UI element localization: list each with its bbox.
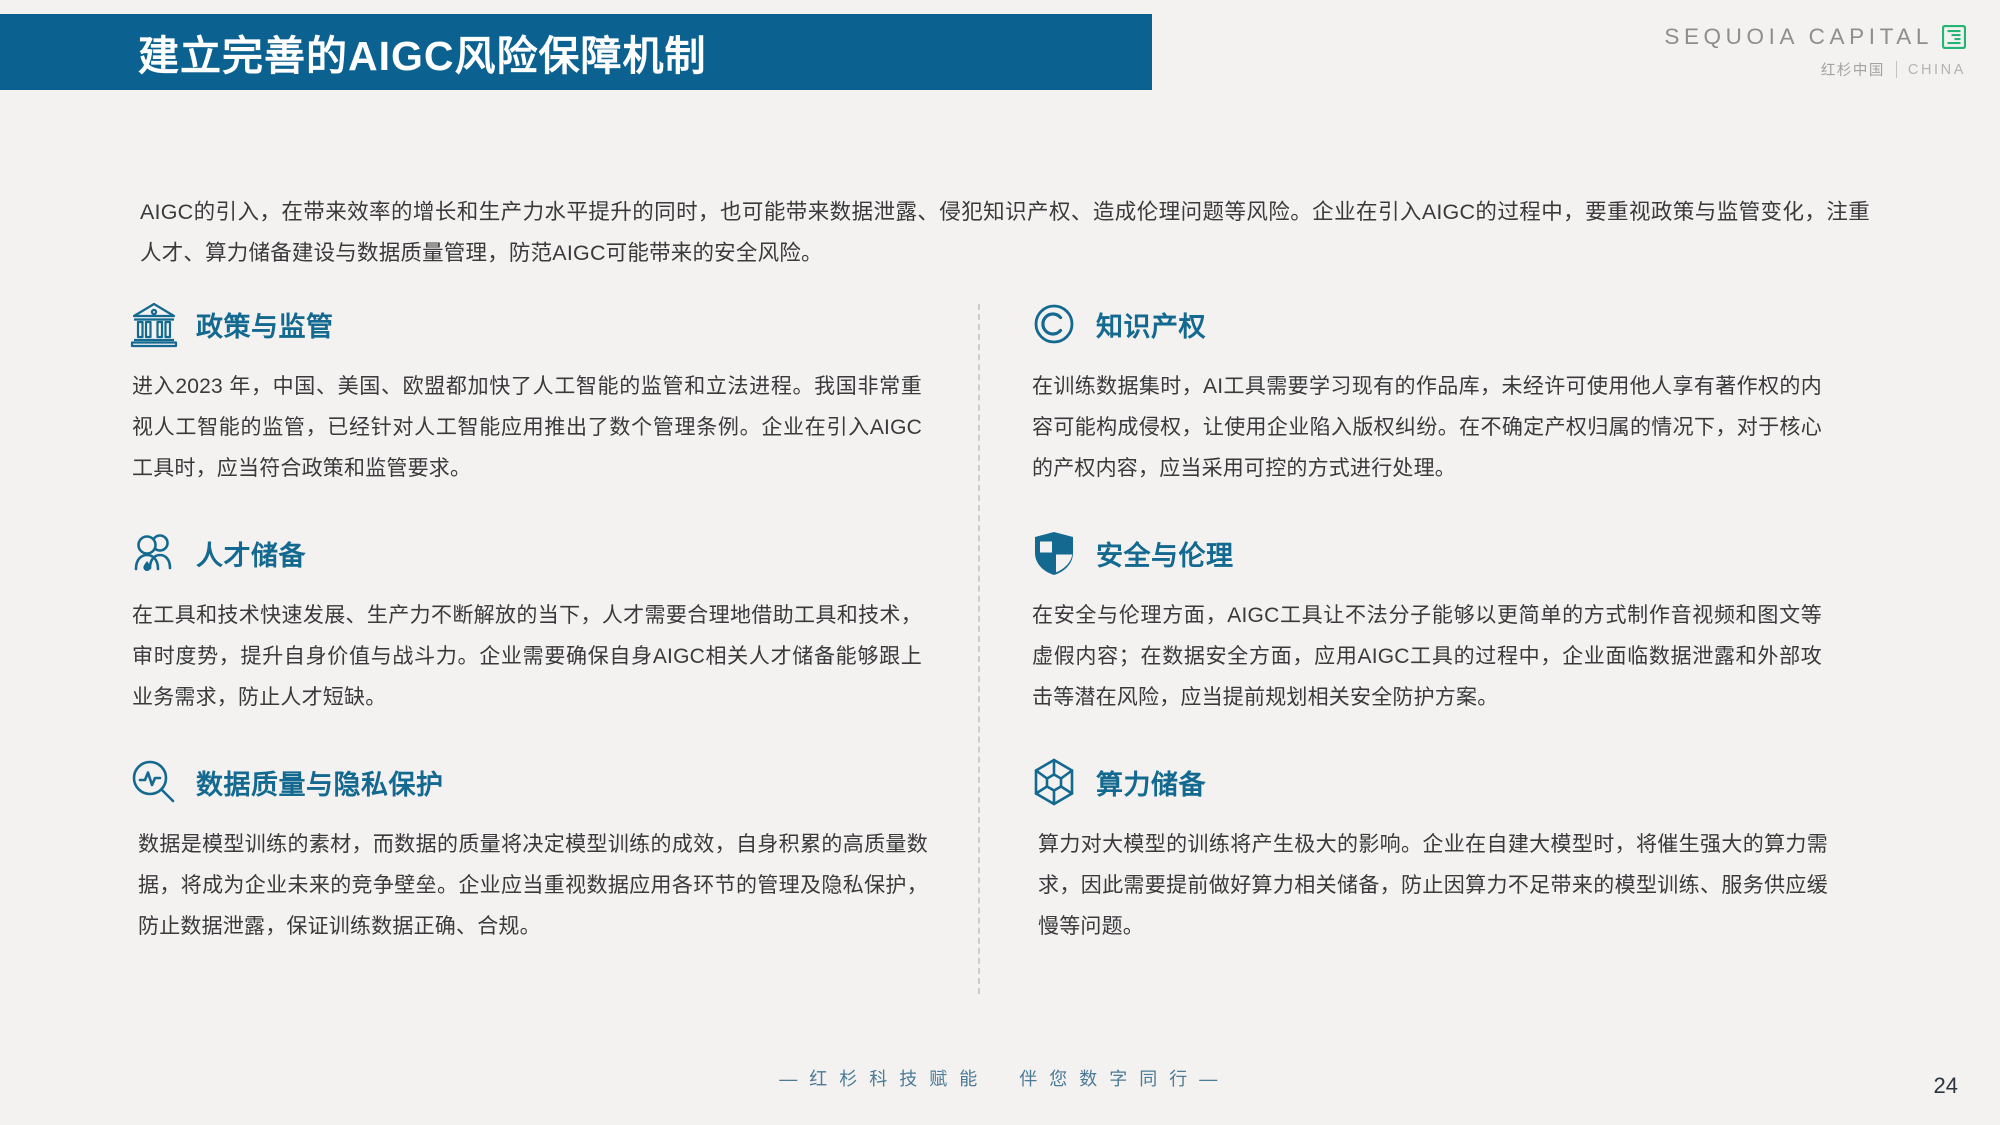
logo-wordmark-row: SEQUOIA CAPITAL: [1664, 24, 1966, 50]
logo-wordmark-text: SEQUOIA CAPITAL: [1664, 24, 1933, 50]
section-body: 数据是模型训练的素材，而数据的质量将决定模型训练的成效，自身积累的高质量数据，将…: [128, 824, 928, 947]
section-body: 在训练数据集时，AI工具需要学习现有的作品库，未经许可使用他人享有著作权的内容可…: [1028, 366, 1822, 489]
magnifier-pulse-icon: [128, 756, 180, 808]
sequoia-capital-logo: SEQUOIA CAPITAL 红杉中国 CHINA: [1664, 24, 1966, 80]
people-icon: [128, 527, 180, 579]
logo-chinese-text: 红杉中国: [1821, 59, 1885, 80]
section-header: 算力储备: [1028, 754, 1848, 810]
section-body: 进入2023 年，中国、美国、欧盟都加快了人工智能的监管和立法进程。我国非常重视…: [128, 366, 922, 489]
section-title: 算力储备: [1096, 763, 1206, 802]
column-divider: [978, 304, 980, 994]
section-title: 政策与监管: [196, 305, 334, 344]
section-title: 数据质量与隐私保护: [196, 763, 444, 802]
right-column: 知识产权 在训练数据集时，AI工具需要学习现有的作品库，未经许可使用他人享有著作…: [1028, 296, 1848, 947]
section-security-ethics: 安全与伦理 在安全与伦理方面，AIGC工具让不法分子能够以更简单的方式制作音视频…: [1028, 525, 1848, 718]
section-talent-reserve: 人才储备 在工具和技术快速发展、生产力不断解放的当下，人才需要合理地借助工具和技…: [128, 525, 948, 718]
intro-paragraph: AIGC的引入，在带来效率的增长和生产力水平提升的同时，也可能带来数据泄露、侵犯…: [140, 192, 1870, 274]
section-body: 算力对大模型的训练将产生极大的影响。企业在自建大模型时，将催生强大的算力需求，因…: [1028, 824, 1828, 947]
sequoia-leaf-icon: [1942, 25, 1966, 49]
section-data-quality-privacy: 数据质量与隐私保护 数据是模型训练的素材，而数据的质量将决定模型训练的成效，自身…: [128, 754, 948, 947]
logo-separator: [1896, 61, 1897, 78]
left-column: 政策与监管 进入2023 年，中国、美国、欧盟都加快了人工智能的监管和立法进程。…: [128, 296, 948, 947]
slide: 建立完善的AIGC风险保障机制 SEQUOIA CAPITAL 红杉中国 CHI…: [0, 0, 2000, 1125]
section-compute-reserve: 算力储备 算力对大模型的训练将产生极大的影响。企业在自建大模型时，将催生强大的算…: [1028, 754, 1848, 947]
hexagon-node-icon: [1028, 756, 1080, 808]
section-title: 知识产权: [1096, 305, 1206, 344]
copyright-icon: [1028, 298, 1080, 350]
section-title: 人才储备: [196, 534, 306, 573]
section-header: 数据质量与隐私保护: [128, 754, 948, 810]
section-title: 安全与伦理: [1096, 534, 1234, 573]
section-header: 知识产权: [1028, 296, 1848, 352]
shield-icon: [1028, 527, 1080, 579]
title-bar: 建立完善的AIGC风险保障机制: [0, 14, 1152, 90]
section-body: 在安全与伦理方面，AIGC工具让不法分子能够以更简单的方式制作音视频和图文等虚假…: [1028, 595, 1822, 718]
logo-subtitle-row: 红杉中国 CHINA: [1664, 59, 1966, 80]
section-header: 安全与伦理: [1028, 525, 1848, 581]
footer-tagline: — 红 杉 科 技 赋 能 伴 您 数 字 同 行 —: [0, 1065, 2000, 1091]
section-policy-regulation: 政策与监管 进入2023 年，中国、美国、欧盟都加快了人工智能的监管和立法进程。…: [128, 296, 948, 489]
content-columns: 政策与监管 进入2023 年，中国、美国、欧盟都加快了人工智能的监管和立法进程。…: [0, 296, 2000, 1016]
section-header: 人才储备: [128, 525, 948, 581]
section-intellectual-property: 知识产权 在训练数据集时，AI工具需要学习现有的作品库，未经许可使用他人享有著作…: [1028, 296, 1848, 489]
section-header: 政策与监管: [128, 296, 948, 352]
logo-english-text: CHINA: [1908, 62, 1966, 78]
section-body: 在工具和技术快速发展、生产力不断解放的当下，人才需要合理地借助工具和技术，审时度…: [128, 595, 922, 718]
page-title: 建立完善的AIGC风险保障机制: [138, 22, 707, 82]
bank-icon: [128, 298, 180, 350]
page-number: 24: [1934, 1073, 1958, 1099]
